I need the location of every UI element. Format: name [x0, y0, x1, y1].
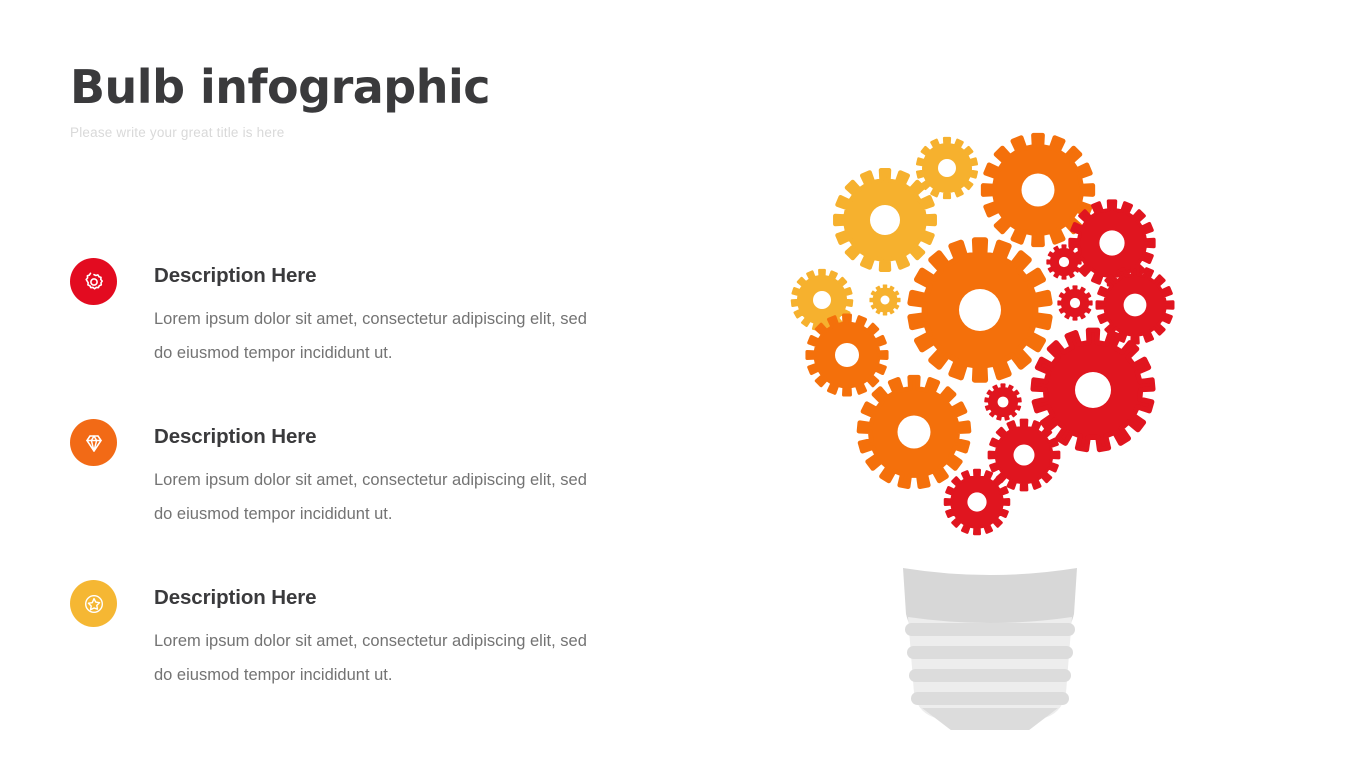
gear-red-tiny-mid-hole [1070, 298, 1080, 308]
gear-red-tiny-upper-hole [1059, 257, 1069, 267]
feature-item-1[interactable]: Description Here Lorem ipsum dolor sit a… [70, 258, 630, 398]
feature-description: Lorem ipsum dolor sit amet, consectetur … [154, 624, 594, 692]
feature-item-3[interactable]: Description Here Lorem ipsum dolor sit a… [70, 580, 630, 720]
gear-orange-top-right-large-hole [1022, 174, 1055, 207]
gear-yellow-left-mid-hole [813, 291, 831, 309]
page-subtitle: Please write your great title is here [70, 126, 710, 140]
feature-title: Description Here [154, 419, 630, 448]
gear-orange-bottom-left-hole [898, 416, 931, 449]
gear-cluster [792, 135, 1173, 534]
gear-yellow-upper-left-large-hole [870, 205, 900, 235]
feature-title: Description Here [154, 258, 630, 287]
bulb-thread-4 [911, 692, 1069, 705]
gear-red-tiny-center-hole [998, 397, 1009, 408]
diamond-icon [70, 419, 117, 466]
bulb-base-tip [922, 708, 1058, 730]
feature-list: Description Here Lorem ipsum dolor sit a… [70, 258, 630, 720]
gear-red-bottom-right-large-hole [1075, 372, 1111, 408]
gear-red-bottom-hole [967, 492, 986, 511]
gear-orange-center-large-hole [959, 289, 1001, 331]
gear-red-lower-hole [1014, 445, 1035, 466]
bulb-thread-3 [909, 669, 1071, 682]
gear-red-right-mid-hole [1124, 294, 1147, 317]
bulb-thread-2 [907, 646, 1073, 659]
feature-item-2[interactable]: Description Here Lorem ipsum dolor sit a… [70, 419, 630, 559]
bulb-base [903, 568, 1077, 730]
feature-title: Description Here [154, 580, 630, 609]
bulb-thread-1 [905, 623, 1075, 636]
gear-yellow-tiny-hole [881, 296, 890, 305]
feature-description: Lorem ipsum dolor sit amet, consectetur … [154, 463, 594, 531]
slide-header: Bulb infographic Please write your great… [70, 64, 710, 140]
gear-red-upper-right-hole [1099, 230, 1124, 255]
gear-yellow-top-small-hole [938, 159, 956, 177]
feature-description: Lorem ipsum dolor sit amet, consectetur … [154, 302, 594, 370]
star-badge-icon [70, 580, 117, 627]
slide-canvas: Bulb infographic Please write your great… [0, 0, 1365, 768]
bulb-gears-illustration [790, 120, 1190, 730]
gear-icon [70, 258, 117, 305]
gear-orange-left-lower-hole [835, 343, 859, 367]
page-title: Bulb infographic [70, 64, 710, 110]
